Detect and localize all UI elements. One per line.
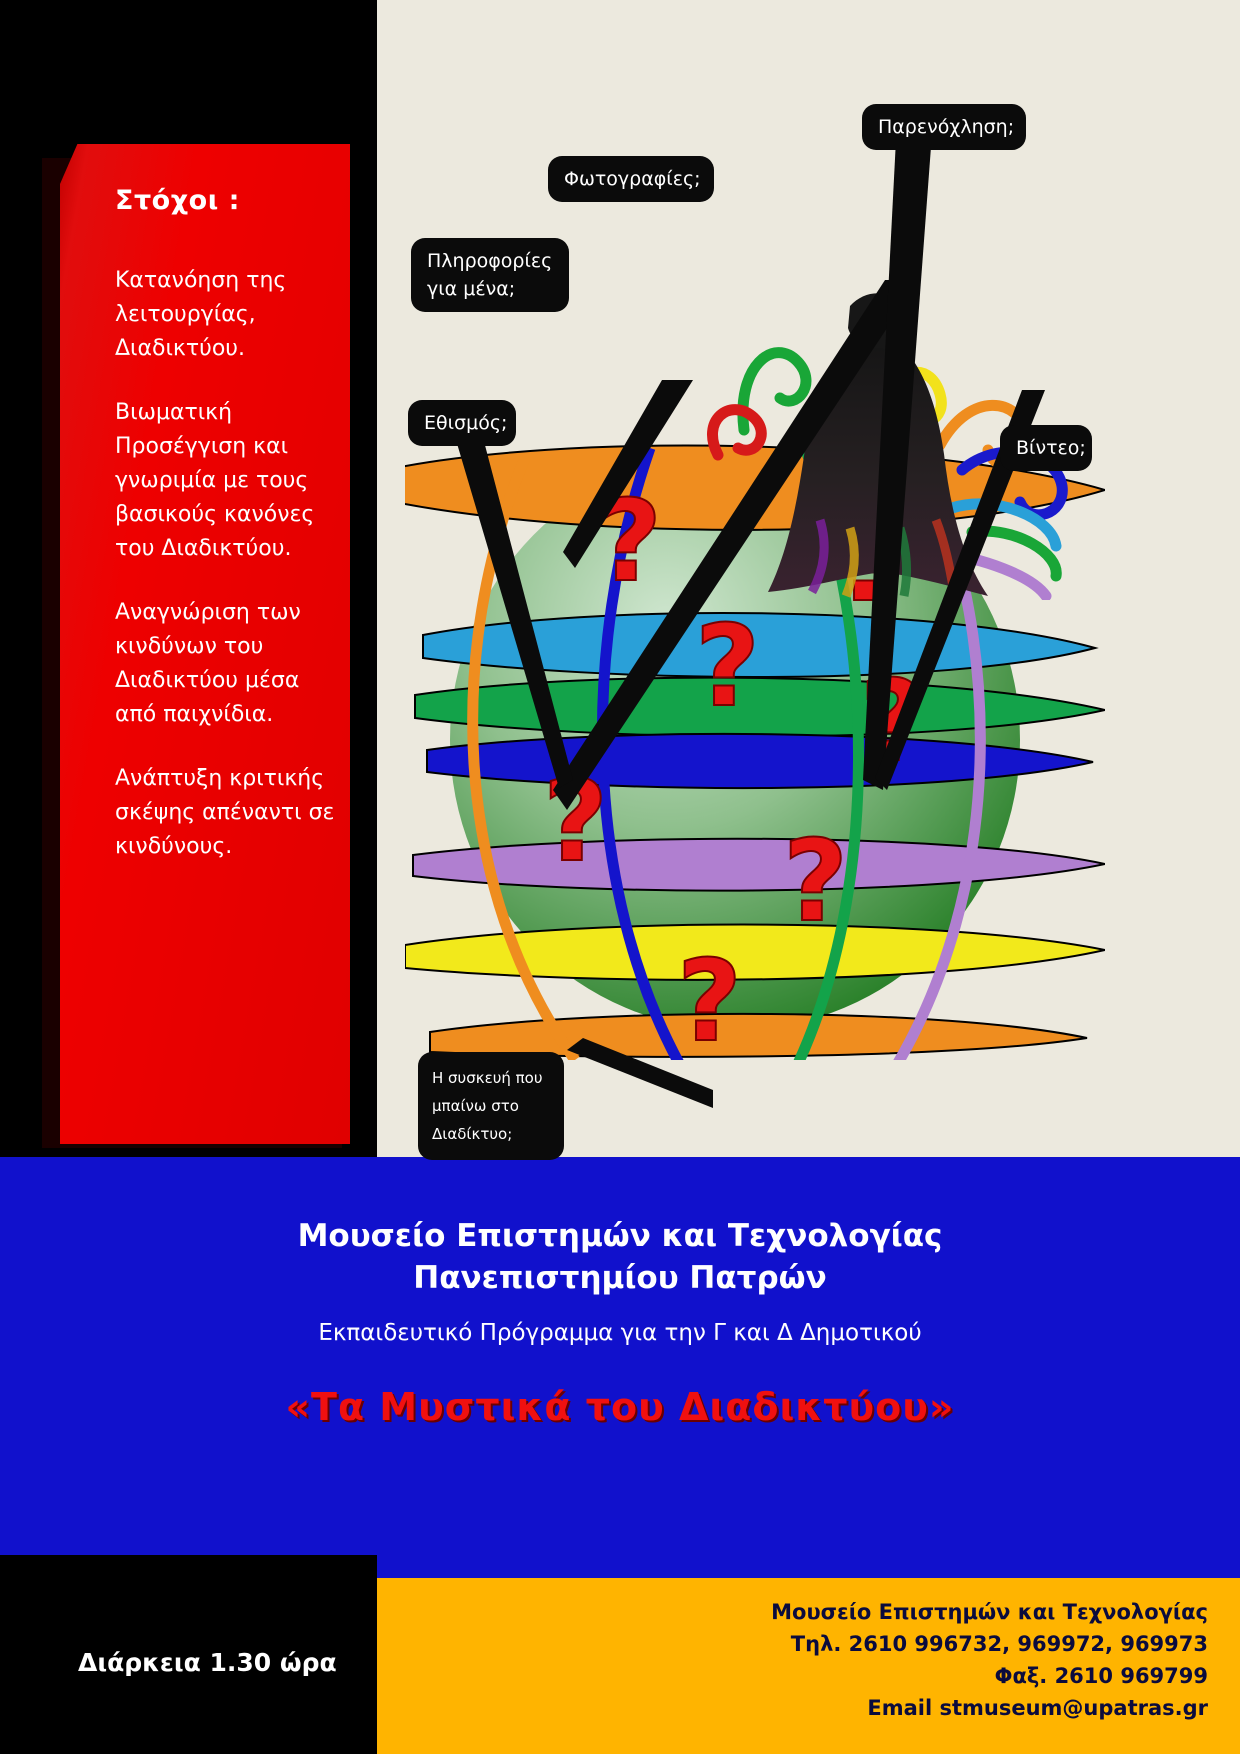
bubble-video[interactable]: Βίντεο; [1000, 425, 1092, 471]
program-title: «Τα Μυστικά του Διαδικτύου» [0, 1385, 1240, 1429]
bubble-photos[interactable]: Φωτογραφίες; [548, 156, 714, 202]
goal-item: Αναγνώριση των κινδύνων του Διαδικτύου μ… [115, 596, 335, 732]
bubble-info[interactable]: Πληροφορίες για μένα; [411, 238, 569, 312]
goals-title: Στόχοι : [115, 185, 335, 216]
contact-line-phone: Τηλ. 2610 996732, 969972, 969973 [771, 1628, 1208, 1660]
upper-stage: ? ? ? ? ? ? ? [0, 0, 1240, 1157]
footer-blue-band: Μουσείο Επιστημών και Τεχνολογίας Πανεπι… [0, 1157, 1240, 1585]
goal-item: Κατανόηση της λειτουργίας, Διαδικτύου. [115, 264, 335, 366]
bubble-addiction[interactable]: Εθισμός; [408, 400, 516, 446]
contact-line-museum: Μουσείο Επιστημών και Τεχνολογίας [771, 1596, 1208, 1628]
goal-item: Ανάπτυξη κριτικής σκέψης απέναντι σε κιν… [115, 762, 335, 864]
museum-title-line1: Μουσείο Επιστημών και Τεχνολογίας [0, 1215, 1240, 1257]
museum-title: Μουσείο Επιστημών και Τεχνολογίας Πανεπι… [0, 1215, 1240, 1299]
poster-root: ? ? ? ? ? ? ? [0, 0, 1240, 1754]
contact-lines: Μουσείο Επιστημών και Τεχνολογίας Τηλ. 2… [771, 1596, 1208, 1724]
bubble-device[interactable]: Η συσκευή που μπαίνω στο Διαδίκτυο; [418, 1052, 564, 1160]
contact-line-fax: Φαξ. 2610 969799 [771, 1660, 1208, 1692]
contact-line-email: Email stmuseum@upatras.gr [771, 1692, 1208, 1724]
goals-content: Στόχοι : Κατανόηση της λειτουργίας, Διαδ… [115, 185, 335, 894]
museum-title-line2: Πανεπιστημίου Πατρών [0, 1257, 1240, 1299]
duration-text: Διάρκεια 1.30 ώρα [78, 1648, 378, 1677]
bubble-harassment[interactable]: Παρενόχληση; [862, 104, 1026, 150]
contact-box: Μουσείο Επιστημών και Τεχνολογίας Τηλ. 2… [377, 1578, 1240, 1754]
goal-item: Βιωματική Προσέγγιση και γνωριμία με του… [115, 396, 335, 566]
program-subtitle: Εκπαιδευτικό Πρόγραμμα για την Γ και Δ Δ… [0, 1317, 1240, 1349]
